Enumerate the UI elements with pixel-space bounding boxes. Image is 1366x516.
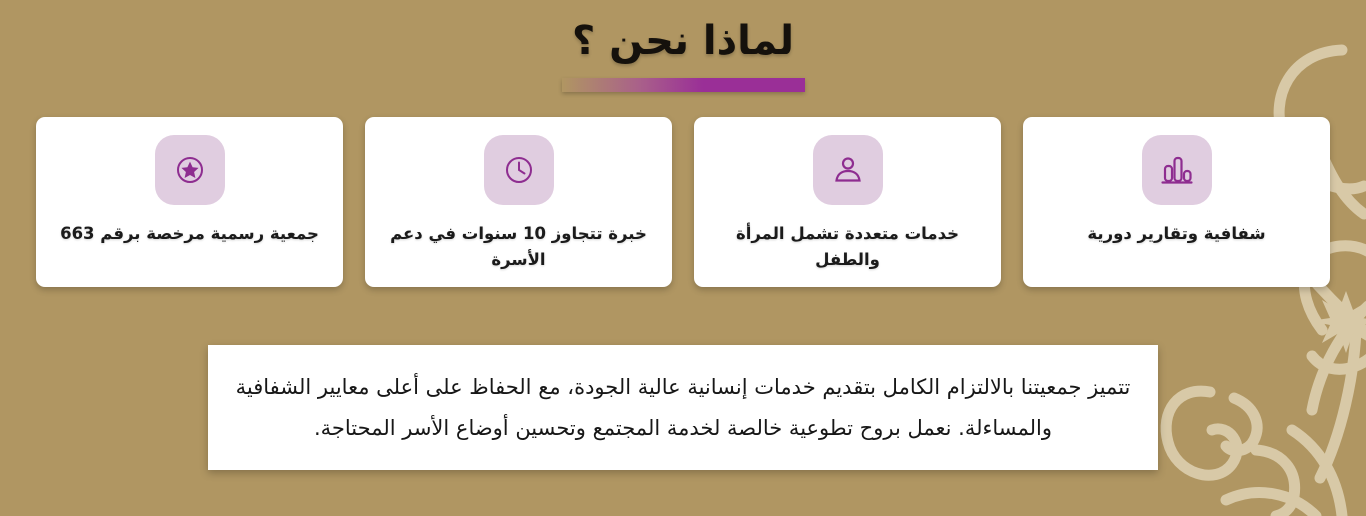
feature-card-experience[interactable]: خبرة تتجاوز 10 سنوات في دعم الأسرة [365, 117, 672, 287]
description-text: تتميز جمعيتنا بالالتزام الكامل بتقديم خد… [234, 367, 1132, 449]
bar-chart-icon [1160, 154, 1194, 186]
icon-tile [1142, 135, 1212, 205]
description-panel: تتميز جمعيتنا بالالتزام الكامل بتقديم خد… [208, 345, 1158, 470]
clock-icon [503, 154, 535, 186]
icon-tile [155, 135, 225, 205]
feature-card-label: خبرة تتجاوز 10 سنوات في دعم الأسرة [365, 221, 672, 272]
star-badge-icon [174, 154, 206, 186]
feature-card-label: جمعية رسمية مرخصة برقم 663 [42, 221, 337, 247]
icon-tile [484, 135, 554, 205]
feature-card-license[interactable]: جمعية رسمية مرخصة برقم 663 [36, 117, 343, 287]
feature-card-transparency[interactable]: شفافية وتقارير دورية [1023, 117, 1330, 287]
page-title: لماذا نحن ؟ [0, 0, 1366, 70]
feature-cards-row: شفافية وتقارير دورية خدمات متعددة تشمل ا… [36, 117, 1330, 287]
person-icon [832, 154, 864, 186]
feature-card-services[interactable]: خدمات متعددة تشمل المرأة والطفل [694, 117, 1001, 287]
title-underline-bar [562, 78, 805, 92]
feature-card-label: خدمات متعددة تشمل المرأة والطفل [694, 221, 1001, 272]
icon-tile [813, 135, 883, 205]
star-flower-icon [1310, 291, 1366, 353]
feature-card-label: شفافية وتقارير دورية [1069, 221, 1283, 247]
section-header: لماذا نحن ؟ [0, 0, 1366, 92]
